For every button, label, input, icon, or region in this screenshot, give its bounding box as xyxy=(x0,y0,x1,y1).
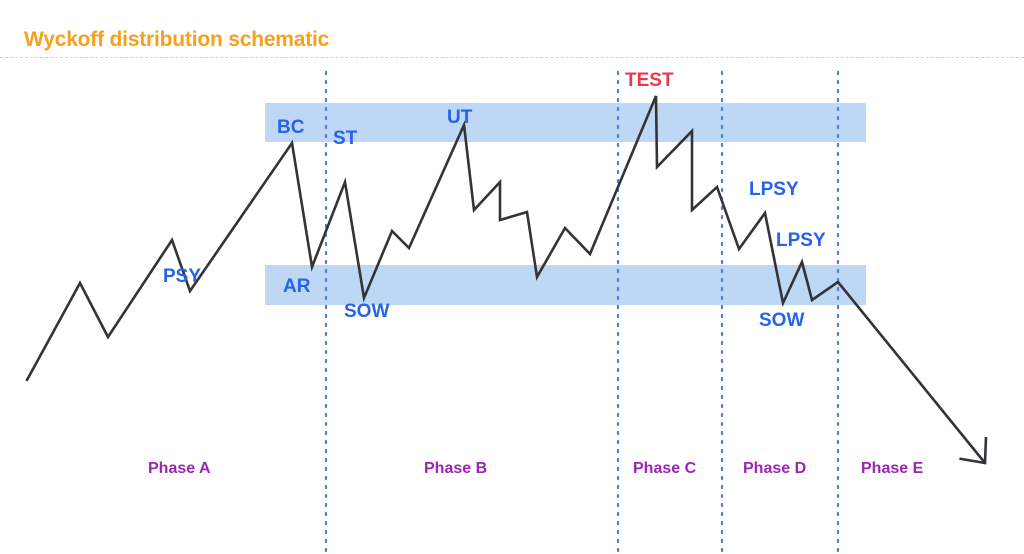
phase-label-b: Phase B xyxy=(424,461,487,477)
phase-label-c: Phase C xyxy=(633,461,696,477)
event-label-ar: AR xyxy=(283,277,310,296)
header: Wyckoff distribution schematic xyxy=(0,0,1024,58)
price-action-svg xyxy=(0,58,1024,554)
event-label-lpsy-1: LPSY xyxy=(749,180,799,199)
phase-label-d: Phase D xyxy=(743,461,806,477)
phase-label-e: Phase E xyxy=(861,461,923,477)
event-label-psy: PSY xyxy=(163,267,201,286)
event-label-ut: UT xyxy=(447,108,472,127)
event-label-sow-2: SOW xyxy=(759,311,804,330)
page-title: Wyckoff distribution schematic xyxy=(24,28,329,52)
event-label-sow-1: SOW xyxy=(344,302,389,321)
event-label-bc: BC xyxy=(277,118,304,137)
event-label-test: TEST xyxy=(625,71,674,90)
event-label-lpsy-2: LPSY xyxy=(776,231,826,250)
phase-label-a: Phase A xyxy=(148,461,211,477)
wyckoff-schematic-page: Wyckoff distribution schematic PSYBCSTSO… xyxy=(0,0,1024,554)
event-label-st: ST xyxy=(333,129,357,148)
chart-area: PSYBCSTSOWARUTTESTLPSYLPSYSOW Phase APha… xyxy=(0,58,1024,554)
